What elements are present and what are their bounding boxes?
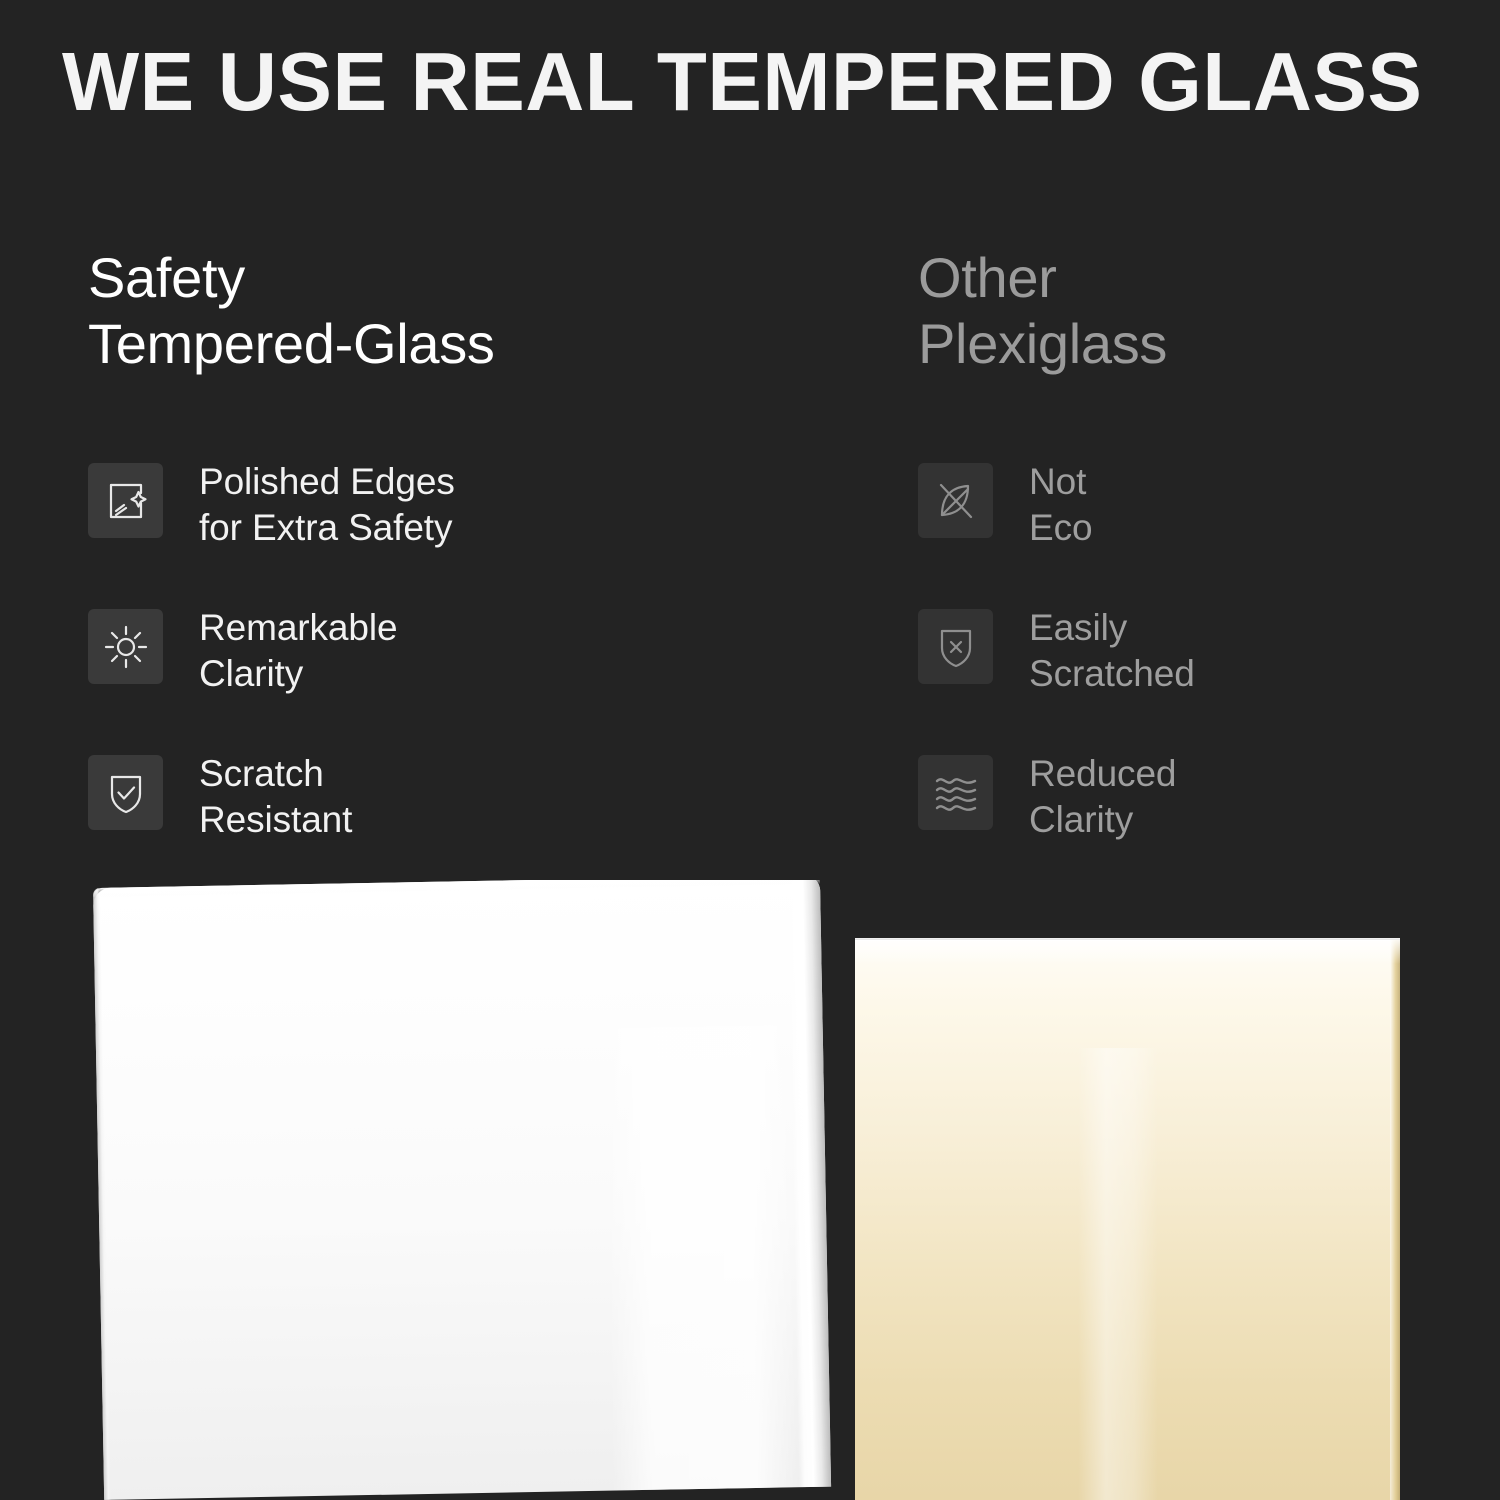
feature-row-scratch-resistant: Scratch Resistant: [88, 749, 728, 867]
product-photo: [0, 880, 1500, 1500]
page-title: WE USE REAL TEMPERED GLASS: [62, 38, 1441, 125]
column-tempered-glass: Safety Tempered-Glass Polished Edges for…: [88, 245, 728, 376]
column-heading-right: Other Plexiglass: [918, 245, 1438, 376]
wavy-lines-distortion-icon: [918, 755, 993, 830]
column-heading-left: Safety Tempered-Glass: [88, 245, 728, 376]
feature-row-polished-edges: Polished Edges for Extra Safety: [88, 457, 728, 575]
column-plexiglass: Other Plexiglass Not Eco: [918, 245, 1438, 376]
feature-label: Scratch Resistant: [199, 749, 352, 844]
feature-label: Easily Scratched: [1029, 603, 1195, 698]
polished-edge-sparkle-icon: [88, 463, 163, 538]
feature-row-remarkable-clarity: Remarkable Clarity: [88, 603, 728, 721]
comparison-infographic: WE USE REAL TEMPERED GLASS Safety Temper…: [0, 0, 1500, 1500]
tempered-glass-panel: [93, 880, 831, 1500]
feature-row-reduced-clarity: Reduced Clarity: [918, 749, 1438, 867]
feature-list-right: Not Eco Easily Scratched: [918, 457, 1438, 895]
plexiglass-panel: [855, 940, 1400, 1500]
shield-x-icon: [918, 609, 993, 684]
sun-brightness-icon: [88, 609, 163, 684]
feature-label: Polished Edges for Extra Safety: [199, 457, 455, 552]
feature-label: Not Eco: [1029, 457, 1092, 552]
glass-reflection: [604, 1025, 798, 1490]
feature-list-left: Polished Edges for Extra Safety: [88, 457, 728, 895]
shield-check-icon: [88, 755, 163, 830]
glass-top-highlight: [93, 880, 820, 897]
feature-label: Remarkable Clarity: [199, 603, 397, 698]
feature-label: Reduced Clarity: [1029, 749, 1176, 844]
feature-row-easily-scratched: Easily Scratched: [918, 603, 1438, 721]
feature-row-not-eco: Not Eco: [918, 457, 1438, 575]
leaf-crossed-out-icon: [918, 463, 993, 538]
